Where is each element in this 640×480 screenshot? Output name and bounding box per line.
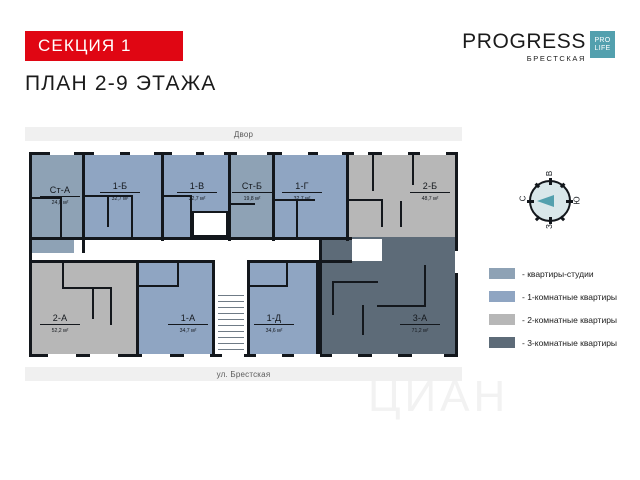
window-opening	[237, 152, 267, 155]
apartment-label-1a: 1-А 34,7 м²	[168, 313, 208, 336]
window-opening	[282, 152, 308, 155]
wall-corridor-bottom	[247, 260, 352, 263]
legend-label: - квартиры-студии	[522, 269, 594, 279]
apartment-name: 1-Б	[100, 181, 140, 191]
window-opening	[372, 354, 398, 357]
apartment-label-2a: 2-А 52,2 м²	[40, 313, 80, 336]
window-opening	[172, 152, 196, 155]
compass-label-south: Ю	[573, 196, 582, 204]
apartment-label-1b: 1-Б 32,7 м²	[100, 181, 140, 204]
apartment-area: 48,7 м²	[410, 192, 450, 204]
wall-interior	[110, 289, 112, 325]
wall-partition	[136, 260, 139, 354]
compass-tick	[560, 216, 565, 221]
apartment-label-st-a: Ст-А 24,0 м²	[40, 185, 80, 208]
apartment-area: 24,0 м²	[40, 196, 80, 208]
corridor-notch	[352, 239, 382, 261]
apartment-area: 19,8 м²	[232, 192, 272, 204]
wall-interior	[250, 285, 288, 287]
apartment-area: 32,7 м²	[100, 192, 140, 204]
floor-plan-drawing: Ст-А 24,0 м² 1-Б 32,7 м² 1-В 32,7 м² Ст-…	[25, 148, 462, 361]
wall-interior	[400, 201, 402, 227]
wall-partition	[272, 155, 275, 241]
section-badge: СЕКЦИЯ 1	[25, 31, 183, 61]
apartment-name: Ст-А	[40, 185, 80, 195]
window-opening	[94, 152, 120, 155]
wall-partition	[319, 237, 322, 354]
legend-item-1room: - 1-комнатные квартиры	[489, 285, 617, 308]
window-opening	[222, 354, 244, 357]
apartment-label-1v: 1-В 32,7 м²	[177, 181, 217, 204]
corridor	[74, 240, 352, 260]
wall-partition	[247, 260, 250, 354]
wall-interior	[349, 199, 383, 201]
logo-wordmark: PROGRESS	[462, 31, 586, 52]
window-opening	[382, 152, 408, 155]
wall-interior	[332, 281, 334, 315]
apartment-name: Ст-Б	[232, 181, 272, 191]
elevator-shaft	[192, 211, 228, 237]
wall-partition	[212, 260, 215, 354]
legend-swatch-3room	[489, 337, 515, 348]
compass-needle-icon	[537, 195, 554, 207]
compass-label-north: С	[518, 196, 527, 202]
staircase	[218, 295, 244, 351]
window-opening	[48, 354, 76, 357]
apartment-name: 1-Д	[254, 313, 294, 323]
apartment-area: 34,6 м²	[254, 324, 294, 336]
apartment-unit-1d[interactable]	[250, 263, 316, 354]
apartment-label-3a: 3-А 71,2 м²	[400, 313, 440, 336]
apartment-area: 34,7 м²	[168, 324, 208, 336]
window-opening	[318, 152, 342, 155]
apartment-unit-3a[interactable]	[319, 237, 455, 354]
apartment-unit-2a[interactable]	[32, 263, 136, 354]
wall-partition	[228, 155, 231, 241]
logo-text-group: PROGRESS БРЕСТСКАЯ	[462, 31, 586, 63]
window-opening	[130, 152, 154, 155]
wall-interior	[62, 287, 112, 289]
window-opening	[256, 354, 282, 357]
apartment-area: 32,7 м²	[177, 192, 217, 204]
wall-interior	[286, 263, 288, 287]
building-outline: Ст-А 24,0 м² 1-Б 32,7 м² 1-В 32,7 м² Ст-…	[29, 152, 458, 357]
legend-label: - 3-комнатные квартиры	[522, 338, 617, 348]
window-opening	[332, 354, 358, 357]
wall-interior	[296, 201, 298, 237]
apartment-name: 1-В	[177, 181, 217, 191]
street-label-bottom: ул. Брестская	[25, 367, 462, 381]
compass-rose: С В Ю З	[521, 172, 579, 230]
wall-interior	[139, 285, 179, 287]
wall-interior	[92, 289, 94, 319]
window-opening	[90, 354, 118, 357]
wall-interior	[62, 263, 64, 289]
wall-partition	[346, 155, 349, 241]
wall-partition	[161, 155, 164, 241]
legend-swatch-2room	[489, 314, 515, 325]
apartment-name: 1-Г	[282, 181, 322, 191]
legend-label: - 1-комнатные квартиры	[522, 292, 617, 302]
apartment-unit-1a[interactable]	[139, 263, 212, 354]
legend-label: - 2-комнатные квартиры	[522, 315, 617, 325]
legend-item-studio: - квартиры-студии	[489, 262, 617, 285]
street-label-top: Двор	[25, 127, 462, 141]
window-opening	[412, 354, 444, 357]
apartment-area: 52,2 м²	[40, 324, 80, 336]
legend-swatch-studio	[489, 268, 515, 279]
apartment-name: 1-А	[168, 313, 208, 323]
legend-item-3room: - 3-комнатные квартиры	[489, 331, 617, 354]
apartment-label-1g: 1-Г 32,7 м²	[282, 181, 322, 204]
window-opening	[455, 251, 458, 273]
prolife-badge-line2: LIFE	[595, 45, 611, 53]
window-opening	[184, 354, 210, 357]
wall-corridor-top	[32, 237, 352, 240]
legend-swatch-1room	[489, 291, 515, 302]
wall-interior	[372, 155, 374, 191]
wall-interior	[362, 305, 364, 335]
brand-logo: PROGRESS БРЕСТСКАЯ PRO LIFE	[462, 31, 615, 65]
compass-tick	[549, 178, 552, 185]
apartment-name: 2-Б	[410, 181, 450, 191]
apartment-area: 71,2 м²	[400, 324, 440, 336]
window-opening	[50, 152, 74, 155]
apartment-name: 2-А	[40, 313, 80, 323]
logo-subtitle: БРЕСТСКАЯ	[527, 54, 586, 63]
window-opening	[420, 152, 446, 155]
window-opening	[294, 354, 320, 357]
wall-interior	[381, 199, 383, 227]
legend-item-2room: - 2-комнатные квартиры	[489, 308, 617, 331]
page-title: ПЛАН 2-9 ЭТАЖА	[25, 72, 217, 96]
apartment-label-st-b: Ст-Б 19,8 м²	[232, 181, 272, 204]
window-opening	[142, 354, 170, 357]
wall-interior	[332, 281, 378, 283]
apartment-name: 3-А	[400, 313, 440, 323]
wall-interior	[177, 263, 179, 287]
apartment-area: 32,7 м²	[282, 192, 322, 204]
wall-interior	[377, 305, 425, 307]
window-opening	[204, 152, 224, 155]
prolife-badge: PRO LIFE	[590, 31, 615, 58]
floor-plan-page: СЕКЦИЯ 1 ПЛАН 2-9 ЭТАЖА PROGRESS БРЕСТСК…	[0, 0, 640, 480]
apartment-label-1d: 1-Д 34,6 м²	[254, 313, 294, 336]
compass-label-east: В	[545, 171, 554, 176]
apartment-label-2b: 2-Б 48,7 м²	[410, 181, 450, 204]
legend: - квартиры-студии - 1-комнатные квартиры…	[489, 262, 617, 354]
prolife-badge-line1: PRO	[594, 37, 610, 45]
wall-corridor-bottom	[32, 260, 215, 263]
compass-label-west: З	[545, 224, 554, 229]
window-opening	[354, 152, 368, 155]
compass-tick	[527, 200, 534, 203]
wall-interior	[424, 265, 426, 307]
